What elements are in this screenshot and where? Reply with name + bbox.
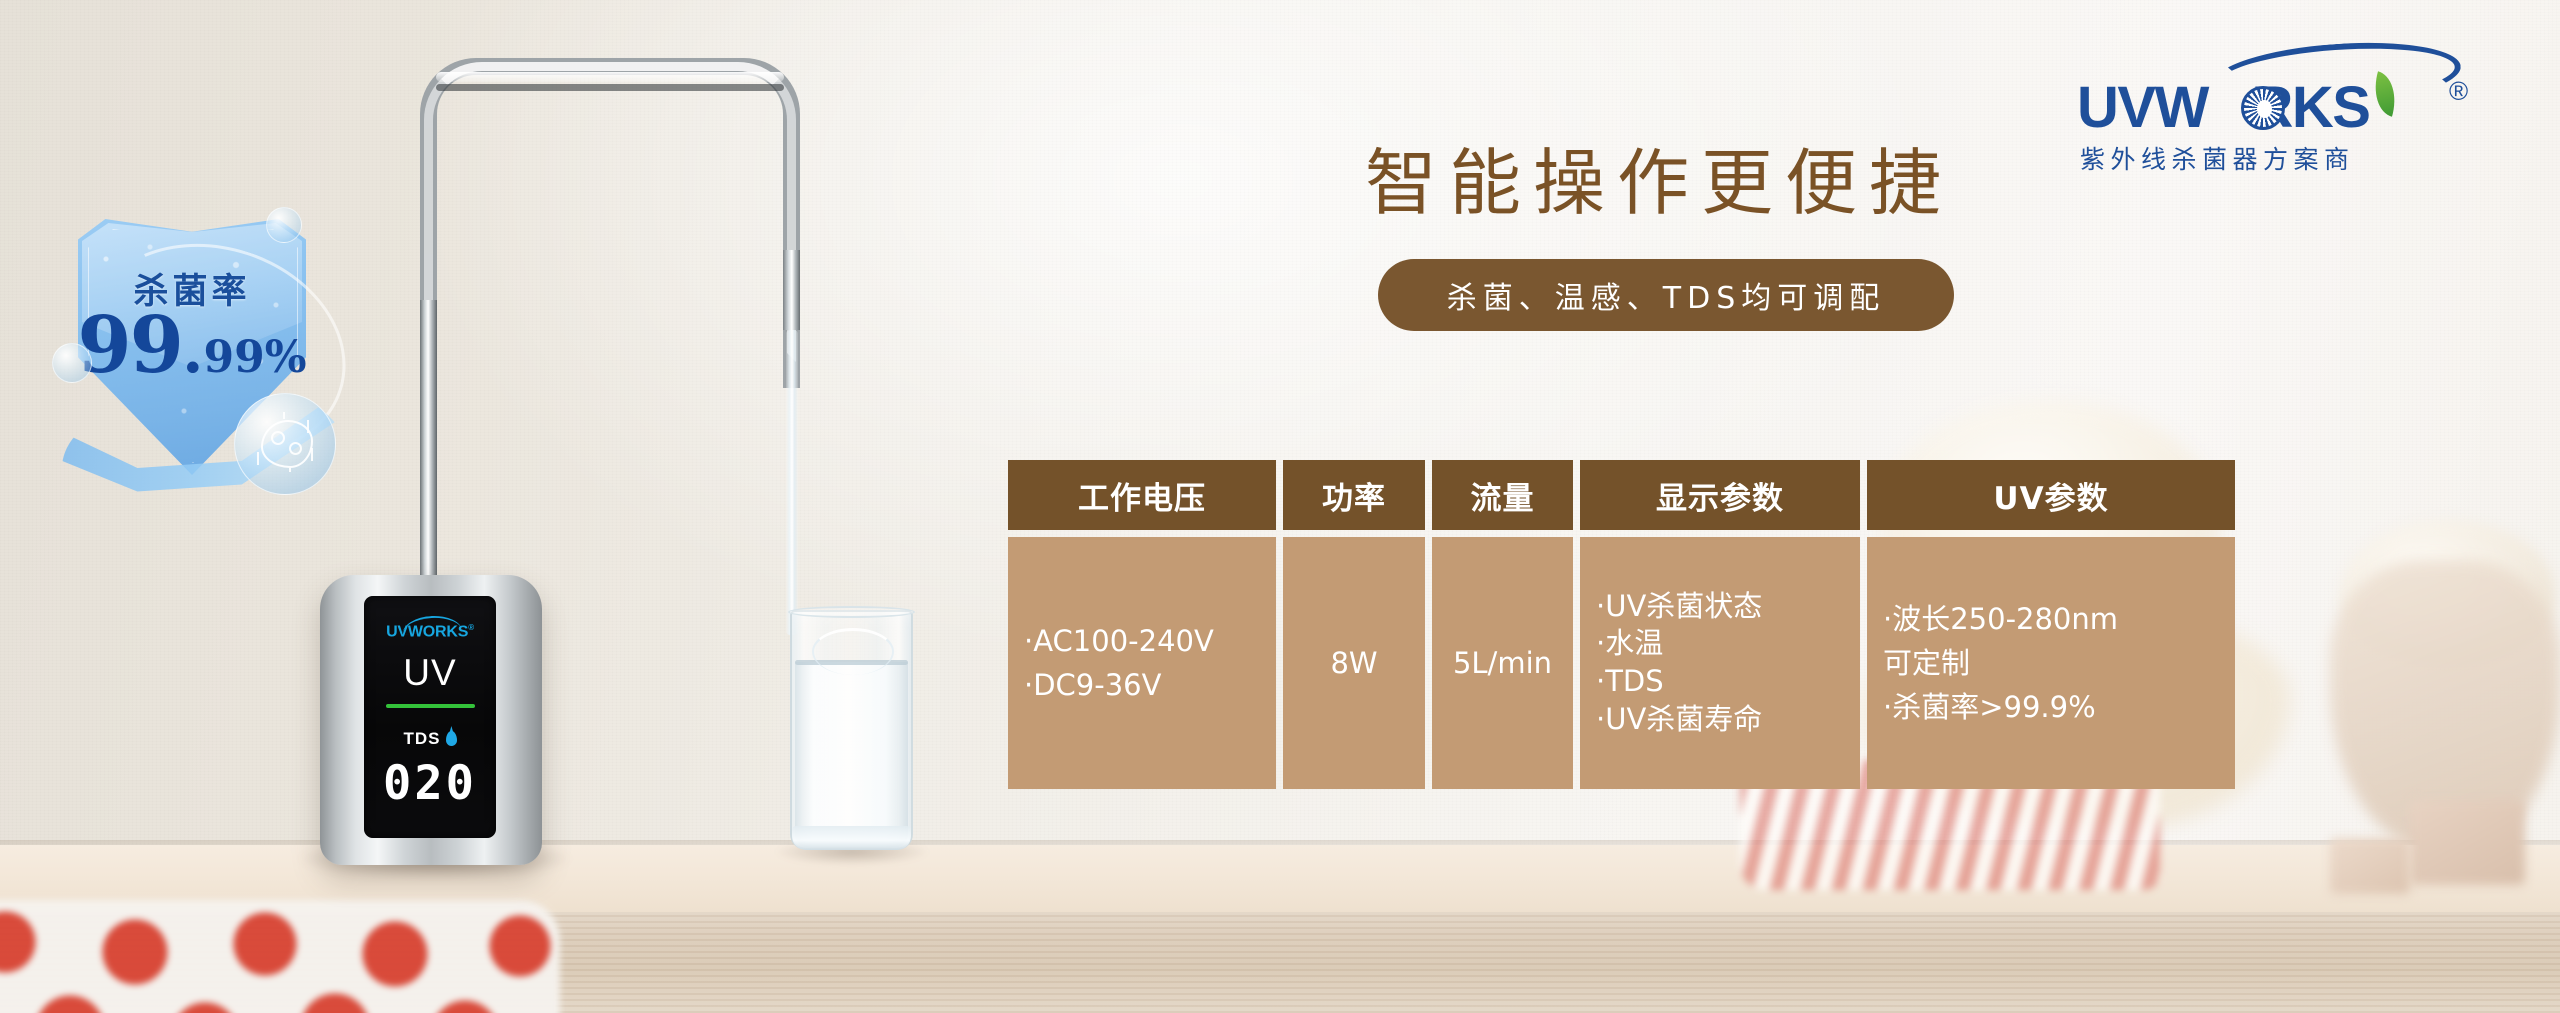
device-screen-logo: UVWORKS® <box>364 623 496 641</box>
page-title: 智能操作更便捷 <box>1365 124 1953 229</box>
spec-column-header: 显示参数 <box>1580 460 1860 530</box>
badge-value: 99.99% <box>48 307 336 385</box>
spec-column-header: 流量 <box>1432 460 1573 530</box>
decor-block-a <box>2410 800 2525 885</box>
logo-wordmark-head: UVW <box>2077 75 2208 140</box>
spec-column-body: ·波长250-280nm可定制·杀菌率>99.9% <box>1867 537 2235 789</box>
faucet-highlight <box>436 72 784 82</box>
badge-value-major: 99 <box>77 300 182 391</box>
product-banner: UVWORKS® UV TDS 020 杀菌率 99.99% 智能操作更便捷 杀… <box>0 0 2560 1013</box>
spec-line: 可定制 <box>1883 641 1970 685</box>
device-status-bar <box>386 704 475 708</box>
specification-table: 工作电压·AC100-240V·DC9-36V功率8W流量5L/min显示参数·… <box>1008 460 2300 789</box>
spec-line: ·UV杀菌状态 <box>1596 588 1762 626</box>
spec-column-header: 功率 <box>1283 460 1425 530</box>
germ-body-icon <box>261 420 313 468</box>
faucet-arc <box>420 58 800 388</box>
device-mode-label: UV <box>364 652 496 694</box>
spec-line: 5L/min <box>1453 641 1552 685</box>
spec-column-header: 工作电压 <box>1008 460 1276 530</box>
device-tds-row: TDS <box>364 729 496 749</box>
spec-line: ·DC9-36V <box>1024 663 1161 707</box>
sunburst-icon <box>2241 86 2285 130</box>
faucet-shade <box>436 84 784 91</box>
spec-column-body: ·UV杀菌状态·水温·TDS·UV杀菌寿命 <box>1580 537 1860 789</box>
glass-base <box>792 826 911 850</box>
spec-line: ·杀菌率>99.9% <box>1883 685 2096 729</box>
decor-polka-dot-cloth <box>0 900 560 1013</box>
spec-column-body: 8W <box>1283 537 1425 789</box>
spec-column-body: 5L/min <box>1432 537 1573 789</box>
logo-tagline: 紫外线杀菌器方案商 <box>2080 140 2355 176</box>
sterilization-rate-badge: 杀菌率 99.99% <box>48 195 368 520</box>
device-display-panel: UVWORKS® UV TDS 020 <box>364 596 496 838</box>
spec-line: ·AC100-240V <box>1024 619 1214 663</box>
germ-bubble-icon <box>234 393 336 495</box>
glass-water-fill <box>795 662 908 847</box>
subtitle-badge: 杀菌、温感、TDS均可调配 <box>1378 259 1954 331</box>
spec-column: UV参数·波长250-280nm可定制·杀菌率>99.9% <box>1867 460 2235 789</box>
spec-column-body: ·AC100-240V·DC9-36V <box>1008 537 1276 789</box>
spec-line: 8W <box>1330 641 1377 685</box>
faucet-left-column <box>420 300 437 600</box>
glass-rim <box>788 606 915 618</box>
badge-value-dot: . <box>182 314 204 387</box>
faucet-spout <box>783 250 800 330</box>
device-tds-label: TDS <box>404 729 441 748</box>
spec-column: 功率8W <box>1283 460 1425 789</box>
spec-column: 显示参数·UV杀菌状态·水温·TDS·UV杀菌寿命 <box>1580 460 1860 789</box>
spec-column: 工作电压·AC100-240V·DC9-36V <box>1008 460 1276 789</box>
water-drop-icon <box>445 731 456 746</box>
logo-wordmark: UVWORKS <box>2077 74 2369 141</box>
brand-logo[interactable]: UVWORKS ® 紫外线杀菌器方案商 <box>2075 42 2475 172</box>
device-screen-logo-registered: ® <box>468 623 474 632</box>
bubble-icon-left <box>52 343 92 383</box>
decor-block-b <box>2330 838 2410 894</box>
spec-line: ·水温 <box>1596 625 1663 663</box>
spec-column-header: UV参数 <box>1867 460 2235 530</box>
spec-line: ·TDS <box>1596 663 1664 701</box>
device-tds-value: 020 <box>364 756 496 811</box>
glass-splash <box>812 628 894 675</box>
water-stream <box>786 330 798 635</box>
bubble-icon-top <box>266 207 302 243</box>
spec-line: ·UV杀菌寿命 <box>1596 701 1762 739</box>
device-screen-logo-text: UVWORKS <box>386 623 468 640</box>
badge-value-minor: 99% <box>204 332 307 383</box>
registered-trademark-icon: ® <box>2449 76 2468 107</box>
spec-line: ·波长250-280nm <box>1883 597 2118 641</box>
subtitle-text: 杀菌、温感、TDS均可调配 <box>1447 273 1885 317</box>
spec-column: 流量5L/min <box>1432 460 1573 789</box>
